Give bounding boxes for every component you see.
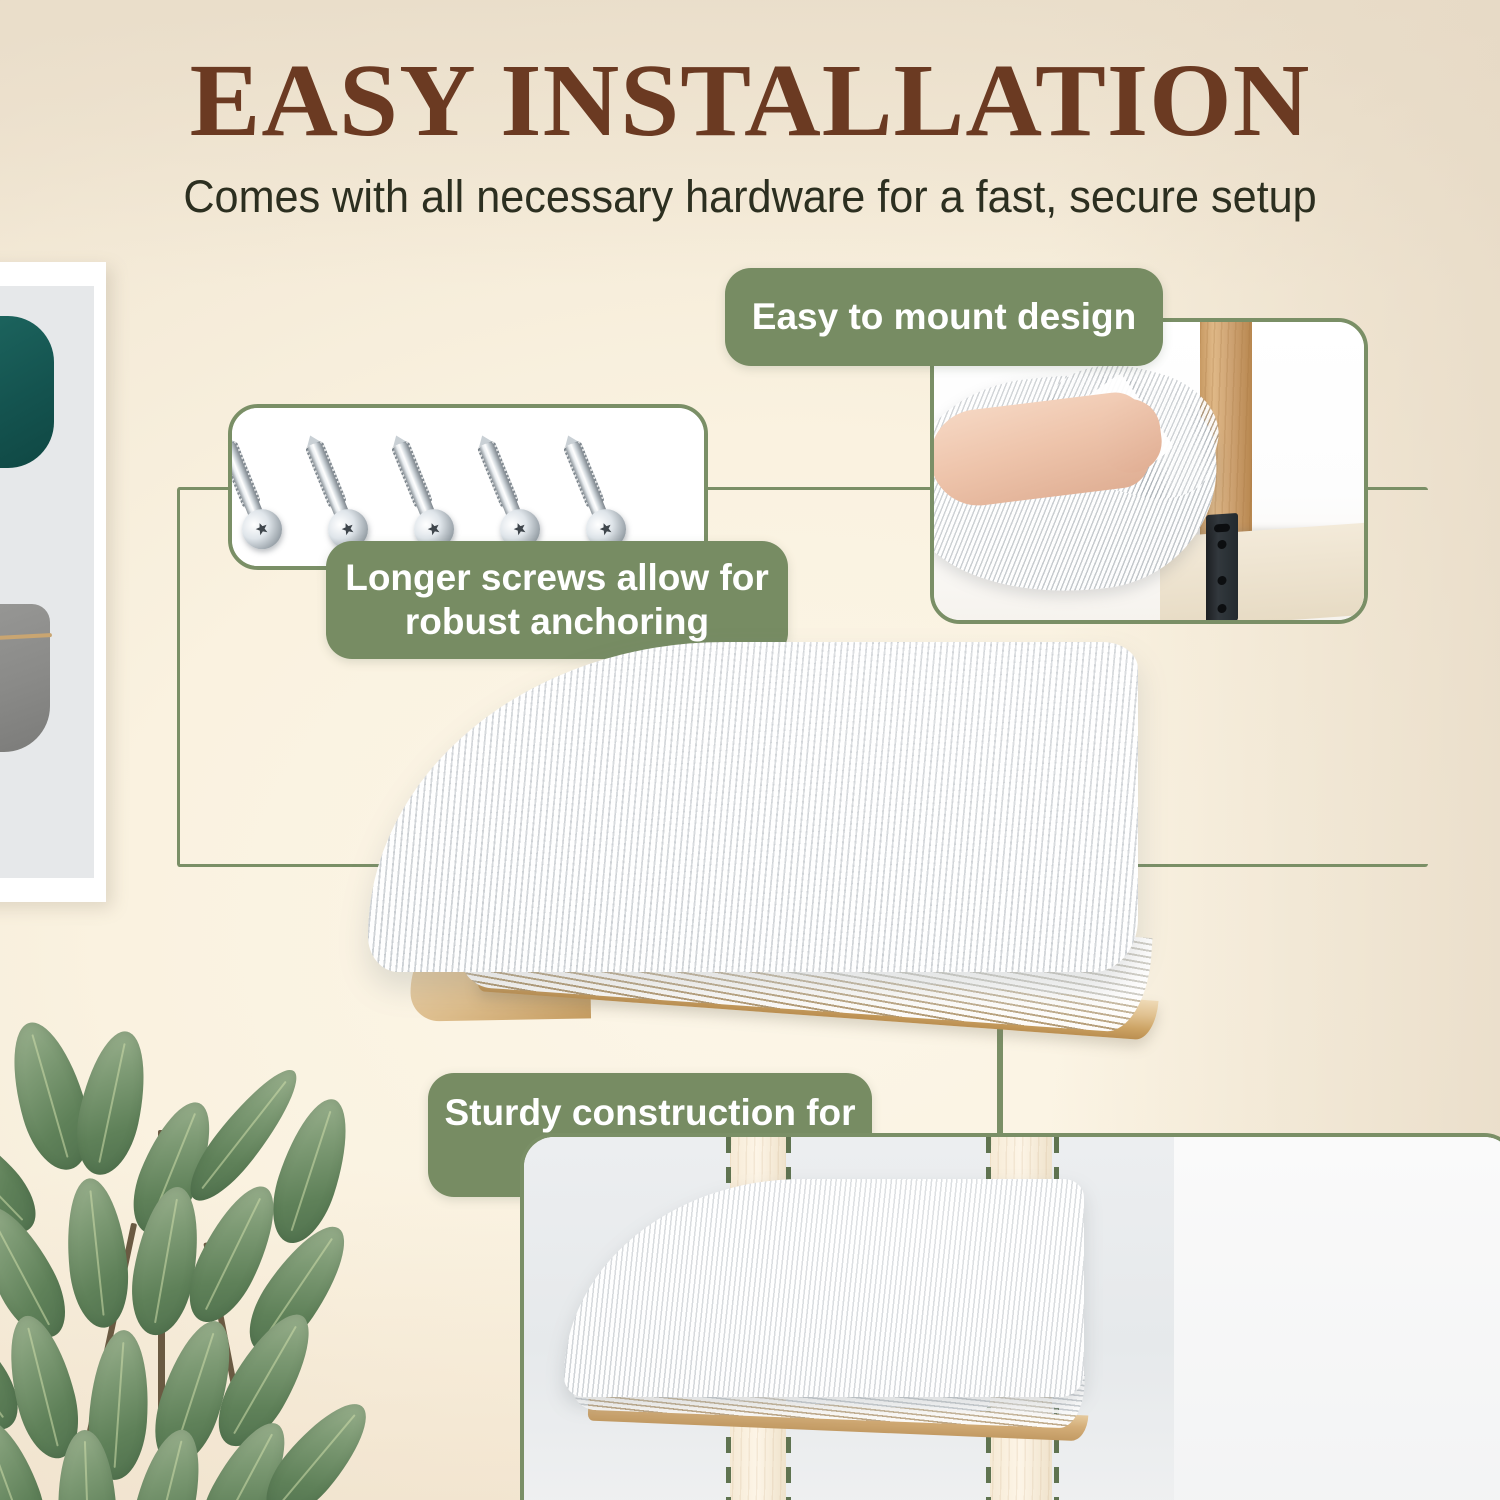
page-subtitle: Comes with all necessary hardware for a …	[30, 154, 1470, 222]
callout-easy-to-mount: Easy to mount design	[725, 268, 1163, 366]
install-wall-right	[1174, 1137, 1500, 1500]
screw-icon-2	[314, 444, 354, 544]
callout-label: Easy to mount design	[752, 295, 1136, 339]
installed-shelf-photo	[520, 1133, 1500, 1500]
callout-label: Longer screws allow for robust anchoring	[340, 556, 774, 643]
header: EASY INSTALLATION Comes with all necessa…	[0, 0, 1500, 222]
plant-leaf	[67, 1025, 156, 1180]
rubber-plant	[0, 1010, 450, 1500]
plant-leaf	[60, 1175, 133, 1330]
wall-art-teal-shape	[0, 316, 54, 468]
corner-shelf-product	[368, 642, 1158, 1062]
abstract-wall-art	[0, 262, 106, 902]
metal-mounting-bracket	[1206, 513, 1238, 623]
screw-icon-5	[572, 444, 612, 544]
installed-shelf-cushion-top	[564, 1179, 1084, 1397]
installed-corner-shelf	[564, 1179, 1084, 1447]
page-title: EASY INSTALLATION	[0, 0, 1500, 154]
wall-art-grey-shape	[0, 604, 50, 752]
screw-icon-4	[486, 444, 526, 544]
screw-icon-1	[228, 444, 268, 544]
shelf-cushion-top	[368, 642, 1138, 972]
infographic-canvas: EASY INSTALLATION Comes with all necessa…	[0, 0, 1500, 1500]
screw-icon-3	[400, 444, 440, 544]
wall-art-canvas	[0, 286, 94, 878]
